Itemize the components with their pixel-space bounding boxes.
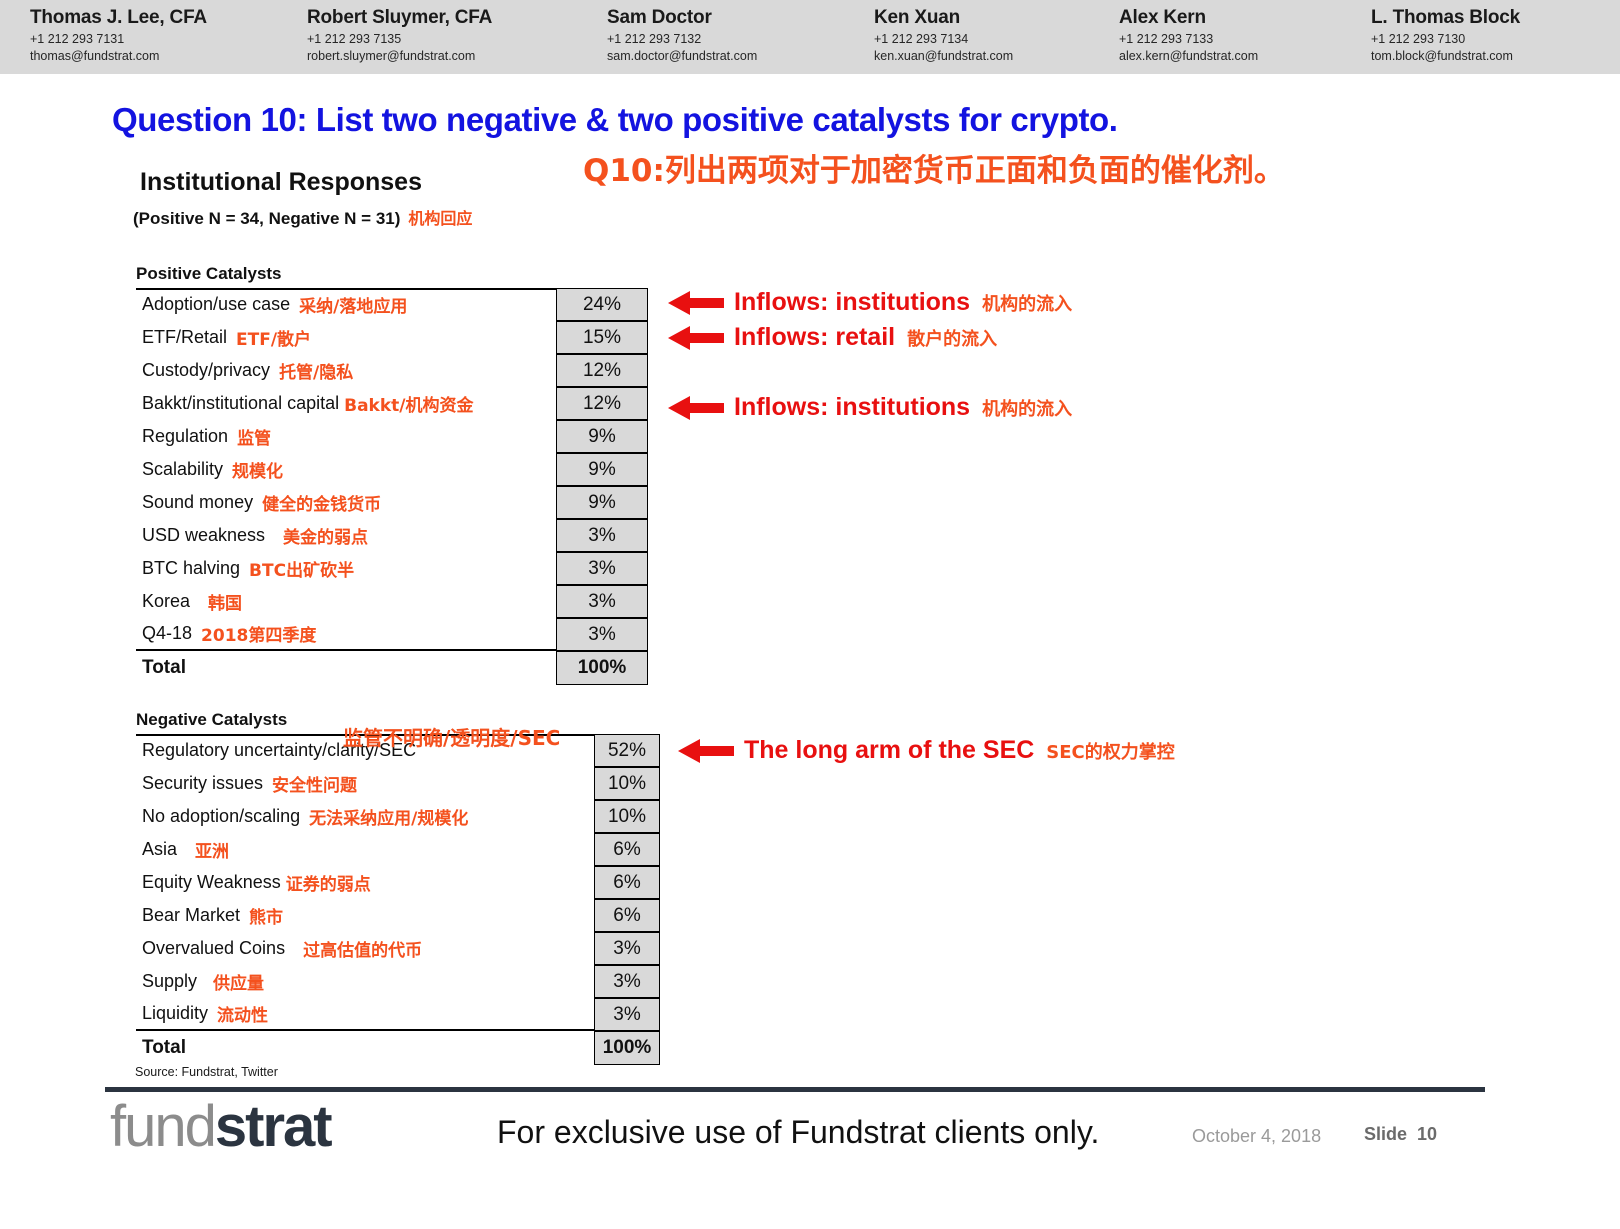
row-label-en: ETF/Retail <box>142 327 227 348</box>
table-row[interactable]: Supply供应量 3% <box>136 965 694 998</box>
contact-card: Sam Doctor +1 212 293 7132 sam.doctor@fu… <box>607 8 757 64</box>
total-percent: 100% <box>556 651 648 685</box>
contact-name: L. Thomas Block <box>1371 8 1520 28</box>
row-label-cn: 安全性问题 <box>272 771 357 796</box>
contact-card: Thomas J. Lee, CFA +1 212 293 7131 thoma… <box>30 8 207 64</box>
annotation-text-cn: SEC的权力掌控 <box>1046 738 1174 764</box>
annotation-text-en: Inflows: institutions <box>734 393 970 422</box>
contact-card: L. Thomas Block +1 212 293 7130 tom.bloc… <box>1371 8 1520 64</box>
left-arrow-icon <box>668 395 724 421</box>
row-label: Q4-182018第四季度 <box>136 618 556 651</box>
slide-number: 10 <box>1417 1124 1437 1144</box>
positive-catalysts-title-row: Positive Catalysts <box>136 264 648 288</box>
row-percent: 3% <box>594 965 660 998</box>
contact-phone: +1 212 293 7135 <box>307 31 492 47</box>
contact-phone: +1 212 293 7133 <box>1119 31 1258 47</box>
table-row[interactable]: Sound money健全的金钱货币 9% <box>136 486 648 519</box>
row-label-cn: 规模化 <box>232 457 283 482</box>
contact-phone: +1 212 293 7130 <box>1371 31 1520 47</box>
row-label: Regulation监管 <box>136 420 556 453</box>
row-label-cn: Bakkt/机构资金 <box>344 391 473 416</box>
row-label-en: Bear Market <box>142 905 240 926</box>
table-row[interactable]: Equity Weakness证券的弱点 6% <box>136 866 694 899</box>
source-note: Source: Fundstrat, Twitter <box>135 1065 278 1079</box>
row-label: ETF/RetailETF/散户 <box>136 321 556 354</box>
row-label-cn: ETF/散户 <box>236 325 311 350</box>
total-label: Total <box>136 651 556 685</box>
row-percent: 9% <box>556 453 648 486</box>
row-label: Asia亚洲 <box>136 833 594 866</box>
table-row[interactable]: Scalability规模化 9% <box>136 453 648 486</box>
row-label: Bear Market熊市 <box>136 899 594 932</box>
table-row[interactable]: Overvalued Coins过高估值的代币 3% <box>136 932 694 965</box>
row-label: BTC halvingBTC出矿砍半 <box>136 552 556 585</box>
row-percent: 3% <box>556 585 648 618</box>
row-percent: 10% <box>594 767 660 800</box>
footer-divider <box>105 1087 1485 1092</box>
row-label-cn: 熊市 <box>249 903 283 928</box>
row-label: Equity Weakness证券的弱点 <box>136 866 594 899</box>
table-row[interactable]: Bakkt/institutional capitalBakkt/机构资金 12… <box>136 387 648 420</box>
row-label-cn: 韩国 <box>208 589 242 614</box>
contact-email[interactable]: ken.xuan@fundstrat.com <box>874 48 1013 64</box>
contact-name: Ken Xuan <box>874 8 1013 28</box>
table-row[interactable]: Custody/privacy托管/隐私 12% <box>136 354 648 387</box>
row-label: Sound money健全的金钱货币 <box>136 486 556 519</box>
row-label-cn: 美金的弱点 <box>283 523 368 548</box>
row-label: Supply供应量 <box>136 965 594 998</box>
institutional-responses-subheading: (Positive N = 34, Negative N = 31)机构回应 <box>133 205 472 229</box>
positive-total-row: Total 100% <box>136 651 648 685</box>
table-row[interactable]: BTC halvingBTC出矿砍半 3% <box>136 552 648 585</box>
contact-phone: +1 212 293 7132 <box>607 31 757 47</box>
annotation-inflows-retail: Inflows: retail 散户的流入 <box>668 323 997 352</box>
annotation-long-arm-of-sec: The long arm of the SEC SEC的权力掌控 <box>678 736 1175 765</box>
row-label-cn: 健全的金钱货币 <box>262 490 381 515</box>
contact-name: Alex Kern <box>1119 8 1258 28</box>
row-percent: 3% <box>594 932 660 965</box>
institutional-responses-heading: Institutional Responses <box>140 168 422 197</box>
row-label-en: Liquidity <box>142 1003 208 1024</box>
contact-email[interactable]: alex.kern@fundstrat.com <box>1119 48 1258 64</box>
row-label-cn: 托管/隐私 <box>279 358 353 383</box>
row-label-en: Overvalued Coins <box>142 938 285 959</box>
negative-total-row: Total 100% <box>136 1031 694 1065</box>
row-label-cn: 供应量 <box>213 969 264 994</box>
row-percent: 12% <box>556 387 648 420</box>
annotation-text-cn: 机构的流入 <box>982 290 1072 316</box>
logo-text-light: fund <box>110 1094 215 1159</box>
row-percent: 3% <box>556 618 648 651</box>
row-label: USD weakness美金的弱点 <box>136 519 556 552</box>
table-row[interactable]: Adoption/use case采纳/落地应用 24% <box>136 288 648 321</box>
table-row[interactable]: Asia亚洲 6% <box>136 833 694 866</box>
row-percent: 9% <box>556 420 648 453</box>
row-label: Overvalued Coins过高估值的代币 <box>136 932 594 965</box>
footer-disclaimer: For exclusive use of Fundstrat clients o… <box>497 1114 1099 1151</box>
row-label-en: Regulation <box>142 426 228 447</box>
row-label: Adoption/use case采纳/落地应用 <box>136 288 556 321</box>
row-percent: 6% <box>594 866 660 899</box>
row-percent: 12% <box>556 354 648 387</box>
row-percent: 6% <box>594 899 660 932</box>
total-label: Total <box>136 1031 594 1065</box>
contact-card: Alex Kern +1 212 293 7133 alex.kern@fund… <box>1119 8 1258 64</box>
row-label-en: Supply <box>142 971 197 992</box>
annotation-text-cn: 散户的流入 <box>907 325 997 351</box>
table-row[interactable]: ETF/RetailETF/散户 15% <box>136 321 648 354</box>
row-label: Liquidity流动性 <box>136 998 594 1031</box>
row-percent: 6% <box>594 833 660 866</box>
slide-question-title-chinese: Q10:列出两项对于加密货币正面和负面的催化剂。 <box>583 145 1285 190</box>
contact-card: Robert Sluymer, CFA +1 212 293 7135 robe… <box>307 8 492 64</box>
fundstrat-logo: fundstrat <box>110 1096 331 1158</box>
sample-size-text-chinese: 机构回应 <box>408 209 472 228</box>
row-label-en: Equity Weakness <box>142 872 281 893</box>
table-row[interactable]: Security issues安全性问题 10% <box>136 767 694 800</box>
slide-question-title: Question 10: List two negative & two pos… <box>112 101 1118 139</box>
row-label-en: Sound money <box>142 492 253 513</box>
row-label-cn: 过高估值的代币 <box>303 936 422 961</box>
contact-email[interactable]: robert.sluymer@fundstrat.com <box>307 48 492 64</box>
contact-phone: +1 212 293 7134 <box>874 31 1013 47</box>
table-row[interactable]: Regulation监管 9% <box>136 420 648 453</box>
row-label-en: Bakkt/institutional capital <box>142 393 339 414</box>
row-percent: 3% <box>556 519 648 552</box>
row-label: No adoption/scaling无法采纳应用/规模化 <box>136 800 594 833</box>
row-percent: 24% <box>556 288 648 321</box>
row-label-cn: 亚洲 <box>195 837 229 862</box>
row-label-cn: 无法采纳应用/规模化 <box>309 804 468 829</box>
row-label-en: Adoption/use case <box>142 294 290 315</box>
row-percent: 10% <box>594 800 660 833</box>
row-label-en: Security issues <box>142 773 263 794</box>
contact-phone: +1 212 293 7131 <box>30 31 207 47</box>
table-row[interactable]: No adoption/scaling无法采纳应用/规模化 10% <box>136 800 694 833</box>
left-arrow-icon <box>678 738 734 764</box>
contact-name: Robert Sluymer, CFA <box>307 8 492 28</box>
row-label-en: Custody/privacy <box>142 360 270 381</box>
contact-card: Ken Xuan +1 212 293 7134 ken.xuan@fundst… <box>874 8 1013 64</box>
row-percent: 52% <box>594 734 660 767</box>
left-arrow-icon <box>668 325 724 351</box>
footer-date: October 4, 2018 <box>1192 1126 1321 1147</box>
table-row[interactable]: Bear Market熊市 6% <box>136 899 694 932</box>
table-row[interactable]: Korea韩国 3% <box>136 585 648 618</box>
row-label-cn: 监管 <box>237 424 271 449</box>
row-label-en: USD weakness <box>142 525 265 546</box>
row-percent: 3% <box>594 998 660 1031</box>
left-arrow-icon <box>668 290 724 316</box>
annotation-text-en: Inflows: retail <box>734 323 895 352</box>
row-label: Security issues安全性问题 <box>136 767 594 800</box>
annotation-text-en: Inflows: institutions <box>734 288 970 317</box>
row-label-en: BTC halving <box>142 558 240 579</box>
row-label-cn: 流动性 <box>217 1001 268 1026</box>
table-row[interactable]: Q4-182018第四季度 3% <box>136 618 648 651</box>
contact-email[interactable]: tom.block@fundstrat.com <box>1371 48 1520 64</box>
row-label-cn: 采纳/落地应用 <box>299 292 407 317</box>
row-label-en: Asia <box>142 839 177 860</box>
row-label: Scalability规模化 <box>136 453 556 486</box>
row-label: Bakkt/institutional capitalBakkt/机构资金 <box>136 387 556 420</box>
annotation-text-en: The long arm of the SEC <box>744 736 1034 765</box>
contact-email[interactable]: thomas@fundstrat.com <box>30 48 207 64</box>
contact-name: Thomas J. Lee, CFA <box>30 8 207 28</box>
row-label: Custody/privacy托管/隐私 <box>136 354 556 387</box>
negative-row-0-chinese-overlay: 监管不明确/透明度/SEC <box>343 722 560 751</box>
row-percent: 3% <box>556 552 648 585</box>
contact-email[interactable]: sam.doctor@fundstrat.com <box>607 48 757 64</box>
row-label-en: Scalability <box>142 459 223 480</box>
row-label-en: Q4-18 <box>142 623 192 644</box>
positive-catalysts-title: Positive Catalysts <box>136 264 648 284</box>
footer-slide-indicator: Slide 10 <box>1364 1124 1437 1145</box>
slide-label: Slide <box>1364 1124 1407 1144</box>
positive-catalysts-table: Positive Catalysts Adoption/use case采纳/落… <box>136 264 648 685</box>
row-label-cn: 证券的弱点 <box>286 870 371 895</box>
row-label-en: Korea <box>142 591 190 612</box>
annotation-text-cn: 机构的流入 <box>982 395 1072 421</box>
table-row[interactable]: USD weakness美金的弱点 3% <box>136 519 648 552</box>
annotation-inflows-institutions-1: Inflows: institutions 机构的流入 <box>668 288 1072 317</box>
row-label-cn: 2018第四季度 <box>201 621 316 646</box>
total-percent: 100% <box>594 1031 660 1065</box>
row-label-en: No adoption/scaling <box>142 806 300 827</box>
row-label: Korea韩国 <box>136 585 556 618</box>
table-row[interactable]: Liquidity流动性 3% <box>136 998 694 1031</box>
contact-header-bar: Thomas J. Lee, CFA +1 212 293 7131 thoma… <box>0 0 1620 74</box>
sample-size-text: (Positive N = 34, Negative N = 31) <box>133 209 400 228</box>
row-percent: 15% <box>556 321 648 354</box>
annotation-inflows-institutions-2: Inflows: institutions SEC的权力掌控 机构的流入 <box>668 393 1072 422</box>
row-percent: 9% <box>556 486 648 519</box>
logo-text-bold: strat <box>215 1094 331 1159</box>
negative-catalysts-table: Negative Catalysts Regulatory uncertaint… <box>136 710 694 1065</box>
contact-name: Sam Doctor <box>607 8 757 28</box>
row-label-cn: BTC出矿砍半 <box>249 556 354 581</box>
